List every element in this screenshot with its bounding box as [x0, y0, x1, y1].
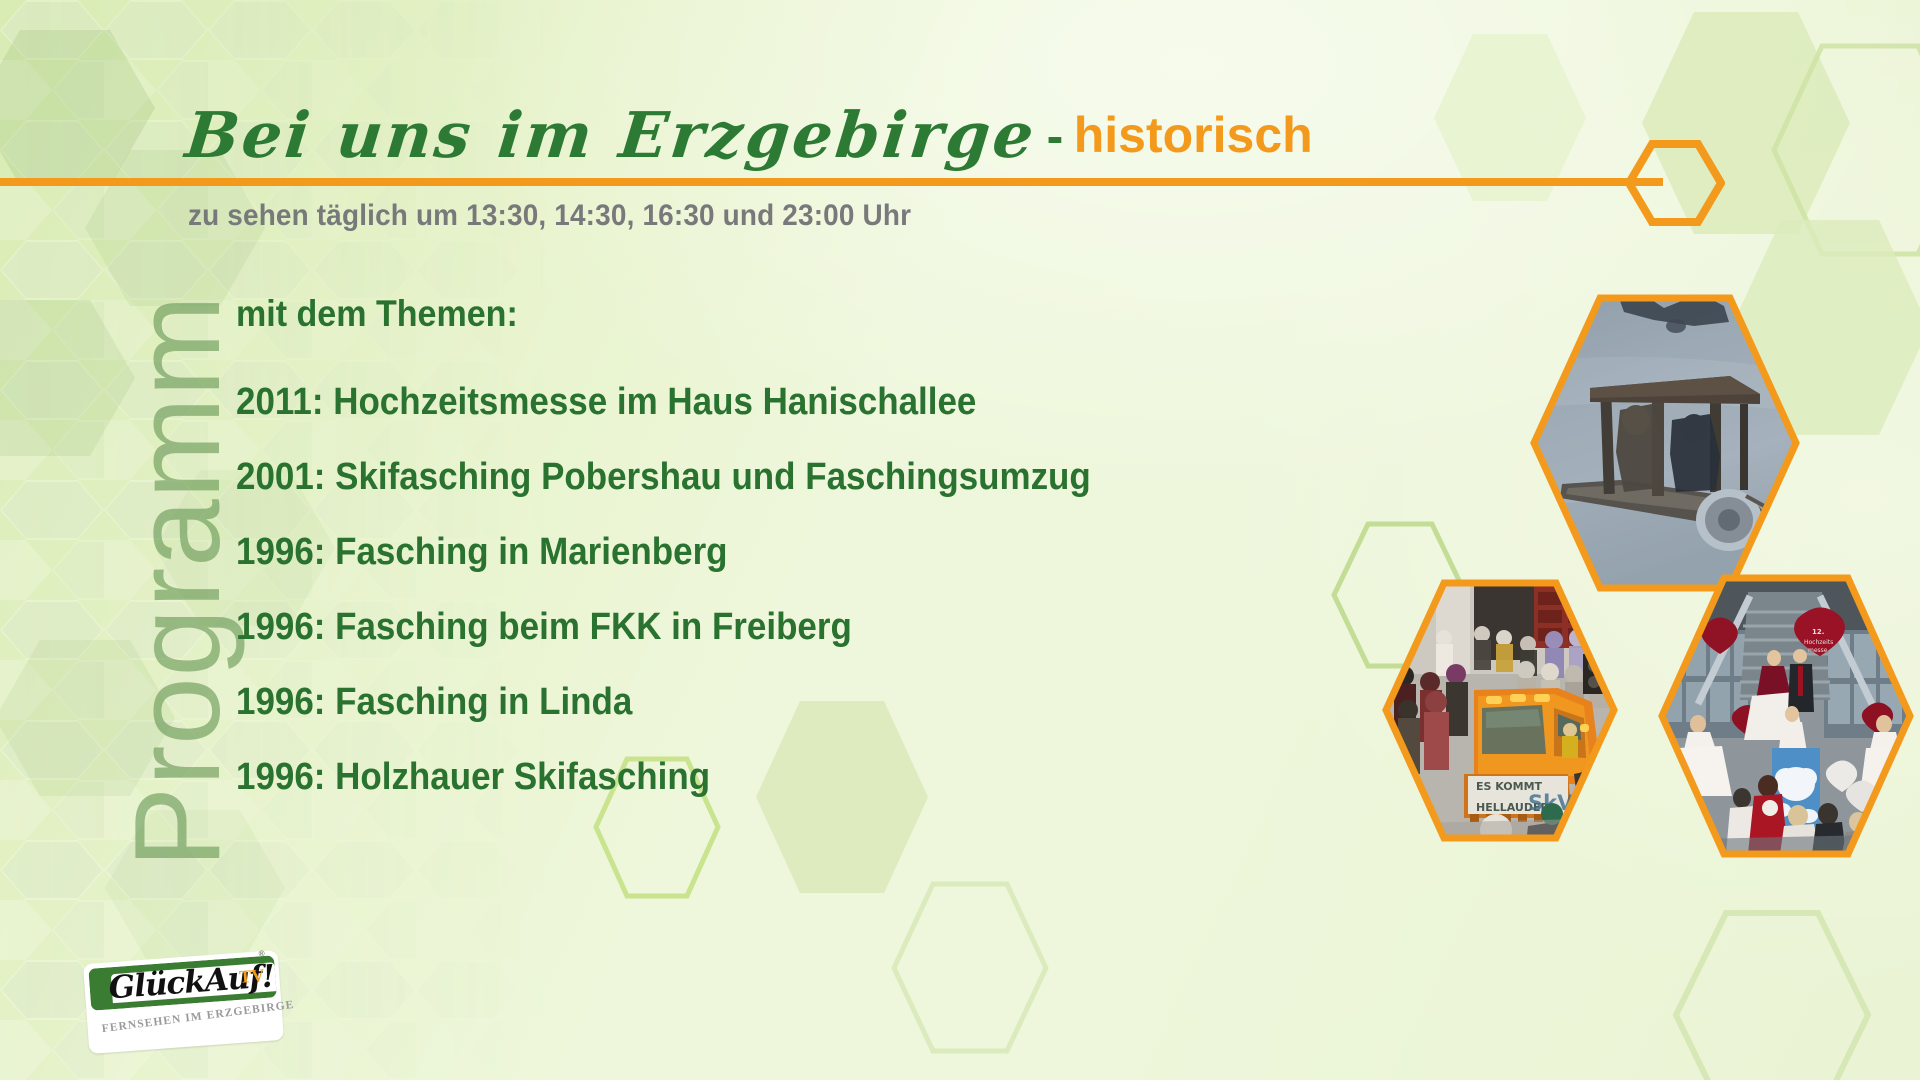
svg-text:Hochzeits: Hochzeits [1804, 639, 1833, 646]
logo-tv-mark: TV [239, 965, 265, 988]
list-item: 1996: Fasching in Marienberg [236, 515, 1248, 590]
list-item: 2011: Hochzeitsmesse im Haus Hanischalle… [236, 365, 1248, 440]
svg-text:messe: messe [1808, 647, 1828, 654]
list-item: 1996: Fasching in Linda [236, 665, 1248, 740]
hex-photo-faschingsumzug-truck: ES KOMMT HELLAUDER SkV [1378, 578, 1622, 844]
topics-intro-label: mit dem Themen: [236, 293, 518, 335]
list-item: 2001: Skifasching Pobershau und Fasching… [236, 440, 1248, 515]
topics-list: 2011: Hochzeitsmesse im Haus Hanischalle… [236, 365, 1336, 815]
logo-registered-mark: ® [258, 949, 265, 958]
list-item: 1996: Holzhauer Skifasching [236, 740, 1248, 815]
header-hex-endcap-icon [1625, 140, 1725, 226]
header-divider-rule [0, 178, 1663, 186]
deco-hex-outline-bottom-center [890, 880, 1050, 1055]
page-title: Bei uns im Erzgebirge - historisch [186, 104, 1313, 167]
slide-canvas: Programm Bei uns im Erzgebirge - histori… [0, 0, 1920, 1080]
page-title-script: Bei uns im Erzgebirge [183, 104, 1040, 167]
svg-text:12.: 12. [1812, 628, 1824, 636]
deco-hex-outline-bottom-right [1672, 908, 1872, 1080]
glueckauf-tv-logo[interactable]: GlückAuf! TV ® FERNSEHEN IM ERZGEBIRGE [83, 950, 284, 1054]
programm-vertical-label: Programm [116, 228, 238, 868]
list-item: 1996: Fasching beim FKK in Freiberg [236, 590, 1248, 665]
hex-photo-hochzeitsmesse-brides: 12. Hochzeits messe [1652, 572, 1920, 862]
hex-photo-skifasching-sled [1524, 292, 1806, 594]
page-title-dash: - [1041, 108, 1070, 164]
page-title-highlight: historisch [1074, 107, 1313, 163]
broadcast-times-subtitle: zu sehen täglich um 13:30, 14:30, 16:30 … [188, 199, 911, 233]
